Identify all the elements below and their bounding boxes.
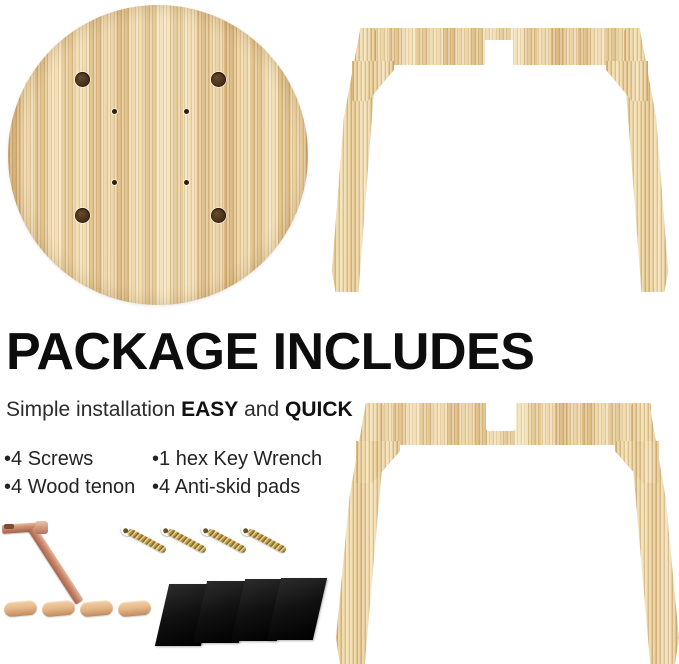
leg-frame-lower-notch — [486, 403, 516, 431]
subtitle-middle: and — [238, 398, 285, 421]
wood-tenon-item — [79, 600, 113, 618]
subtitle-emphasis-quick: QUICK — [285, 398, 353, 421]
leg-frame-upper-notch — [485, 40, 513, 66]
tabletop-rim-shading — [8, 5, 308, 305]
tabletop-pilot-hole — [112, 109, 117, 114]
subtitle: Simple installation EASY and QUICK — [6, 398, 353, 422]
list-item: •4 Screws — [4, 448, 152, 471]
wood-tenon-item — [117, 600, 151, 618]
list-item: •1 hex Key Wrench — [152, 448, 332, 471]
tabletop-mounting-hole — [75, 208, 90, 223]
bullet-icon: • — [152, 476, 159, 498]
leg-frame-upper — [330, 28, 670, 296]
subtitle-lead: Simple installation — [6, 398, 181, 421]
list-item: •4 Wood tenon — [4, 476, 152, 499]
bullet-icon: • — [4, 476, 11, 498]
hex-wrench-elbow — [35, 521, 48, 534]
list-item-label: 4 Anti-skid pads — [159, 476, 300, 498]
bullet-icon: • — [152, 448, 159, 470]
wood-tenons-group — [4, 596, 154, 626]
tabletop-mounting-hole — [211, 72, 226, 87]
hex-key-wrench-image — [2, 512, 128, 590]
round-tabletop-image — [8, 5, 308, 305]
leg-frame-lower — [336, 403, 679, 664]
hex-wrench-long-arm — [28, 526, 83, 605]
package-contents-list: •4 Screws •1 hex Key Wrench •4 Wood teno… — [4, 448, 334, 499]
screws-group — [126, 524, 316, 584]
list-item-label: 1 hex Key Wrench — [159, 448, 322, 470]
tabletop-mounting-hole — [75, 72, 90, 87]
bullet-icon: • — [4, 448, 11, 470]
subtitle-emphasis-easy: EASY — [181, 398, 238, 421]
page-title: PACKAGE INCLUDES — [6, 326, 534, 378]
tabletop-mounting-hole — [211, 208, 226, 223]
list-item-label: 4 Screws — [11, 448, 93, 470]
tabletop-pilot-hole — [184, 180, 189, 185]
list-item: •4 Anti-skid pads — [152, 476, 332, 499]
tabletop-pilot-hole — [184, 109, 189, 114]
package-includes-infographic: PACKAGE INCLUDES Simple installation EAS… — [0, 0, 679, 664]
hex-wrench-tip — [4, 524, 14, 529]
list-item-label: 4 Wood tenon — [11, 476, 135, 498]
tabletop-pilot-hole — [112, 180, 117, 185]
wood-tenon-item — [3, 600, 37, 618]
anti-skid-pads-group — [162, 578, 322, 660]
wood-tenon-item — [41, 600, 75, 618]
